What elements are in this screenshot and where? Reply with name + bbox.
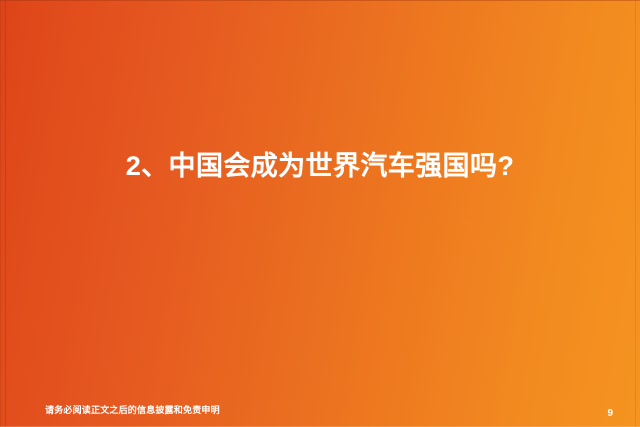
section-title-block: 2、中国会成为世界汽车强国吗? [0, 0, 640, 427]
presentation-slide: 2、中国会成为世界汽车强国吗? 请务必阅读正文之后的信息披露和免责申明 9 [0, 0, 640, 427]
page-title: 2、中国会成为世界汽车强国吗? [126, 150, 515, 182]
page-number: 9 [607, 409, 613, 419]
footer-disclaimer: 请务必阅读正文之后的信息披露和免责申明 [45, 403, 220, 416]
